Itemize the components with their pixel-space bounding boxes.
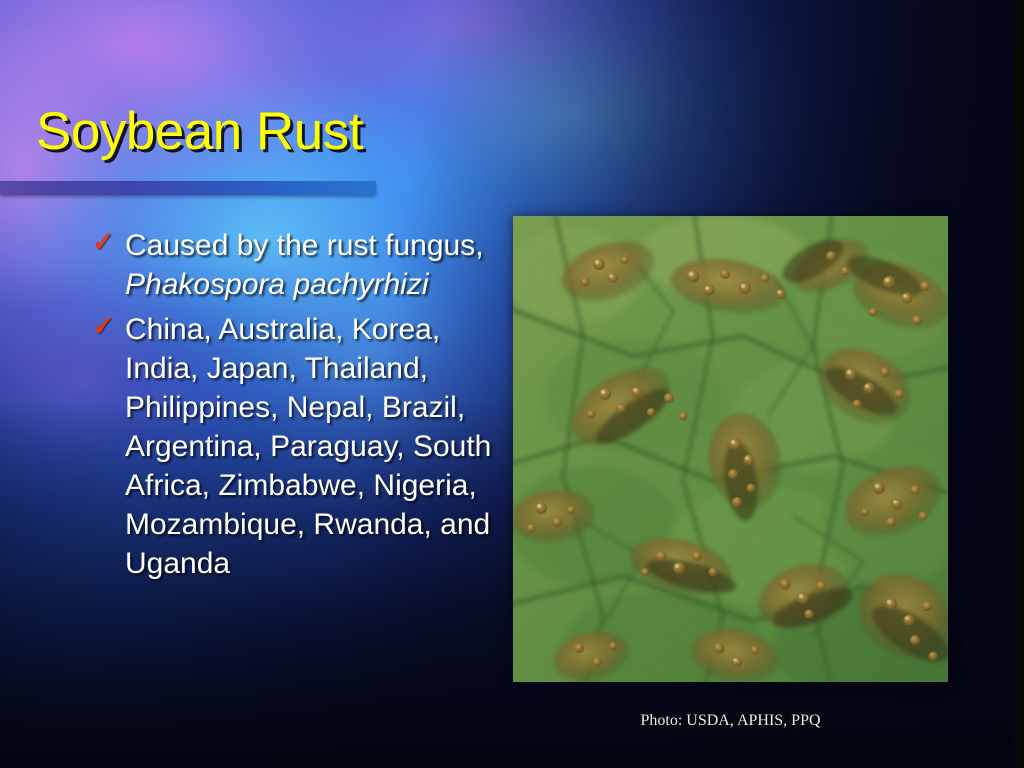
bullet-text: China, Australia, Korea, India, Japan, T…: [125, 313, 491, 580]
list-item: ✓ China, Australia, Korea, India, Japan,…: [92, 310, 502, 583]
check-icon: ✓: [92, 227, 116, 257]
photo-caption: Photo: USDA, APHIS, PPQ: [513, 712, 948, 730]
title-divider-bar: [0, 181, 376, 195]
check-icon: ✓: [92, 311, 116, 341]
right-edge-strip: [1012, 0, 1024, 768]
scientific-name: Phakospora pachyrhizi: [125, 268, 429, 301]
bullet-text: Caused by the rust fungus,: [125, 229, 484, 262]
page-title: Soybean Rust: [36, 104, 363, 160]
list-item: ✓ Caused by the rust fungus, Phakospora …: [92, 226, 502, 304]
leaf-photo-graphic: [513, 216, 948, 682]
rust-leaf-photo: [513, 216, 948, 682]
slide: Soybean Rust ✓ Caused by the rust fungus…: [0, 0, 1024, 768]
bullet-list: ✓ Caused by the rust fungus, Phakospora …: [92, 226, 502, 589]
